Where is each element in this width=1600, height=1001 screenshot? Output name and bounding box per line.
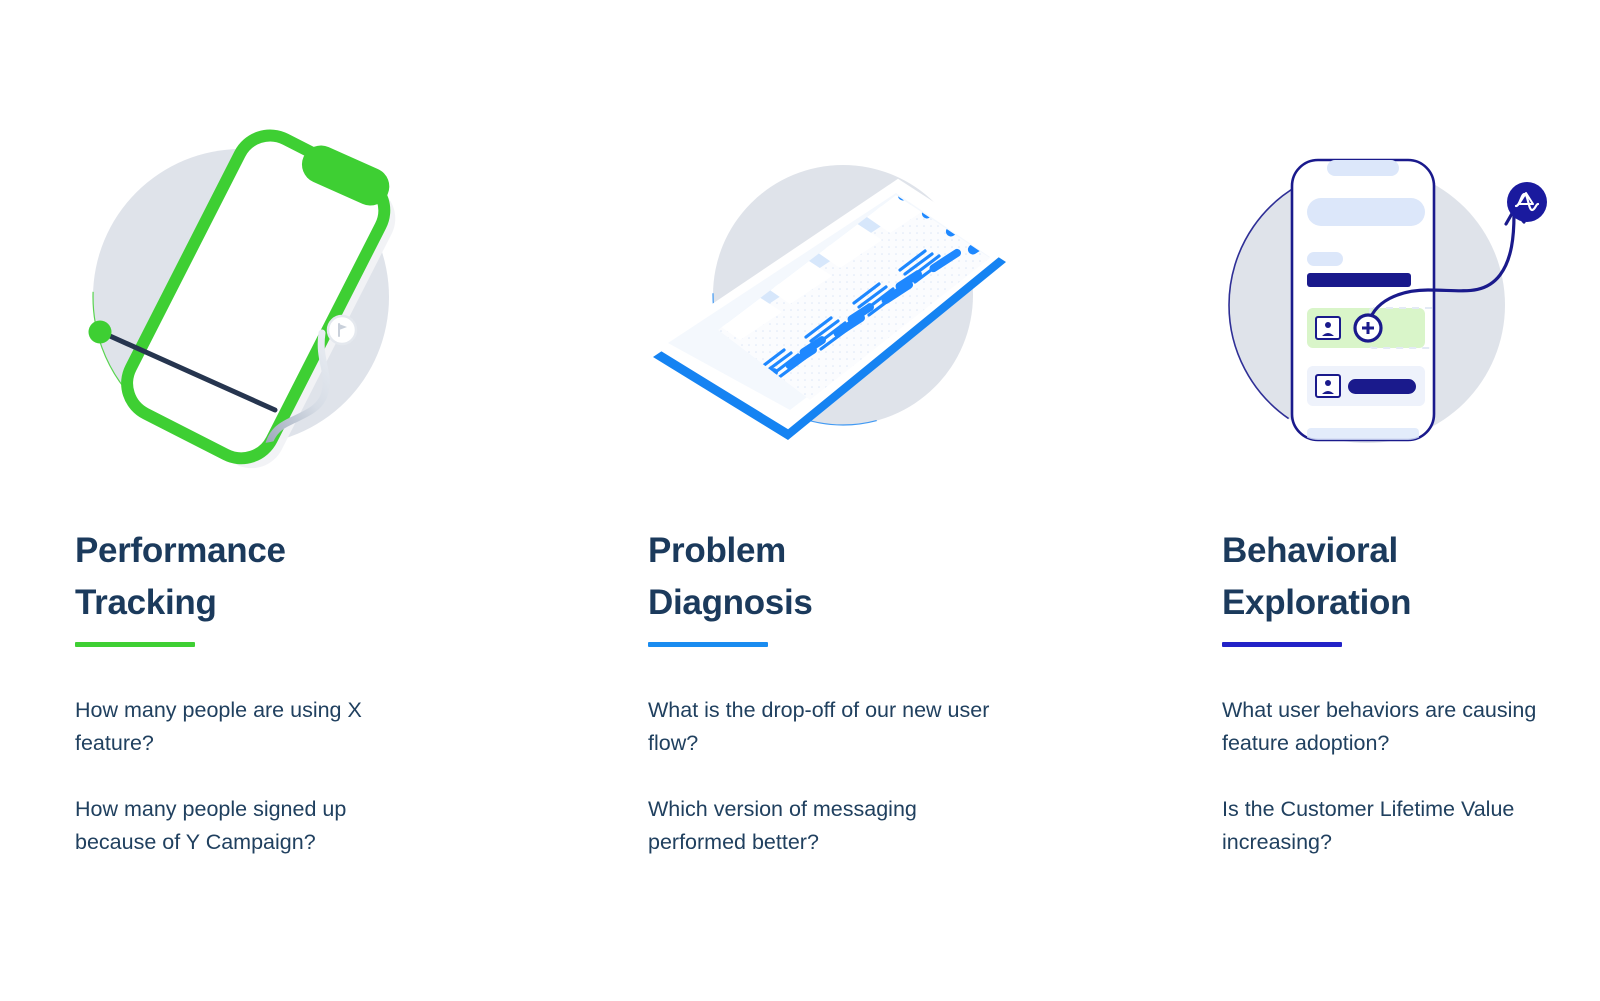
entry-dot	[89, 321, 112, 344]
column-title-behavioral-exploration: Behavioral Exploration	[1222, 525, 1552, 629]
content-placeholder-small	[1307, 252, 1343, 266]
column-title-performance-tracking: Performance Tracking	[75, 525, 405, 629]
feature-column-behavioral-exploration: Behavioral Exploration What user behavio…	[1222, 0, 1600, 1001]
phone-notch	[1327, 160, 1399, 176]
question-item: What is the drop-off of our new user flo…	[648, 694, 998, 760]
title-line-2: Exploration	[1222, 577, 1552, 629]
question-item: How many people signed up because of Y C…	[75, 793, 425, 859]
page-root: Performance Tracking How many people are…	[0, 0, 1600, 1001]
title-line-1: Performance	[75, 525, 405, 577]
accent-rule-performance-tracking	[75, 642, 195, 647]
amplitude-logo-icon	[1507, 182, 1547, 222]
content-bar-dark	[1307, 273, 1411, 287]
question-item: What user behaviors are causing feature …	[1222, 694, 1572, 760]
title-line-1: Behavioral	[1222, 525, 1552, 577]
title-line-2: Tracking	[75, 577, 405, 629]
question-item: How many people are using X feature?	[75, 694, 425, 760]
plus-circle-icon	[1355, 315, 1381, 341]
question-item: Is the Customer Lifetime Value increasin…	[1222, 793, 1572, 859]
flag-pin-icon	[328, 316, 356, 344]
accent-rule-behavioral-exploration	[1222, 642, 1342, 647]
person-card-icon	[1316, 317, 1340, 339]
accent-rule-problem-diagnosis	[648, 642, 768, 647]
questions-performance-tracking: How many people are using X feature? How…	[75, 672, 435, 859]
problem-diagnosis-illustration	[628, 140, 1028, 470]
feature-column-performance-tracking: Performance Tracking How many people are…	[75, 0, 575, 1001]
questions-problem-diagnosis: What is the drop-off of our new user flo…	[648, 672, 1008, 859]
behavioral-exploration-illustration	[1212, 140, 1592, 480]
row-bar-dark	[1348, 379, 1416, 394]
questions-behavioral-exploration: What user behaviors are causing feature …	[1222, 672, 1582, 859]
feature-column-problem-diagnosis: Problem Diagnosis What is the drop-off o…	[648, 0, 1148, 1001]
performance-tracking-illustration	[75, 120, 435, 480]
question-item: Which version of messaging performed bet…	[648, 793, 998, 859]
feature-columns: Performance Tracking How many people are…	[0, 0, 1600, 1001]
person-card-icon	[1316, 375, 1340, 397]
column-title-problem-diagnosis: Problem Diagnosis	[648, 525, 978, 629]
title-line-1: Problem	[648, 525, 978, 577]
title-line-2: Diagnosis	[648, 577, 978, 629]
